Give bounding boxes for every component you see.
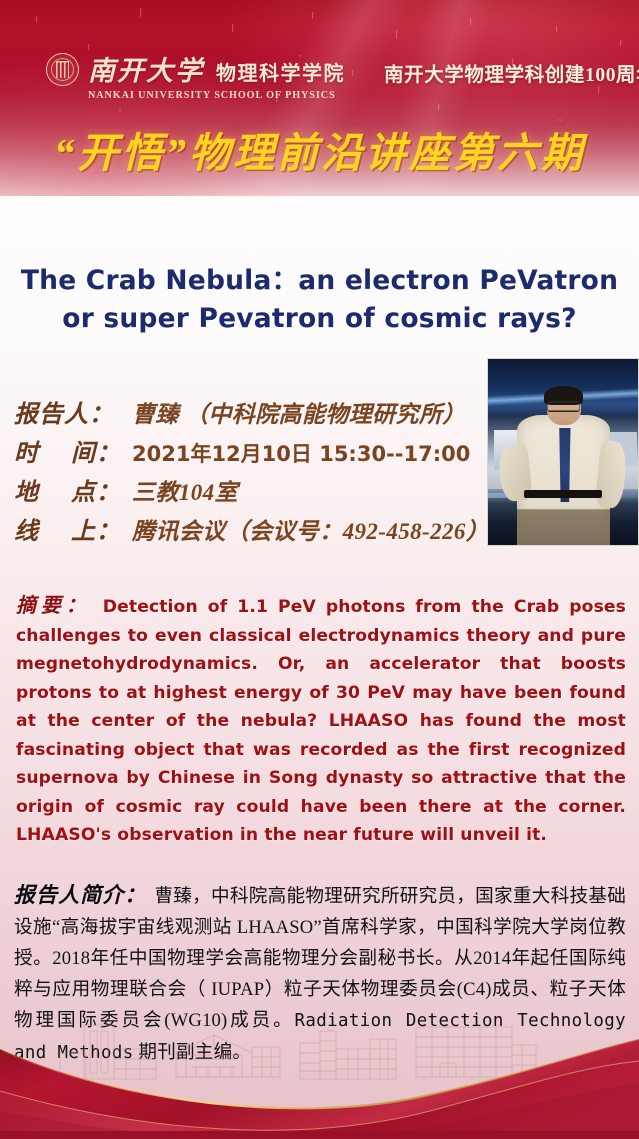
logo-text-group: 南开大学 物理科学学院 NANKAI UNIVERSITY SCHOOL OF … — [88, 49, 345, 101]
detail-label-speaker: 报告人： — [14, 394, 132, 429]
bio-label: 报告人简介： — [14, 883, 146, 907]
detail-value-online: 腾讯会议（会议号：492-458-226） — [132, 512, 489, 546]
footer-decoration — [0, 1019, 639, 1139]
nankai-seal-icon — [46, 53, 79, 86]
lecture-poster: 南开大学 物理科学学院 NANKAI UNIVERSITY SCHOOL OF … — [0, 0, 639, 1139]
talk-details: 报告人： 曹臻 （中科院高能物理研究所） 时 间： 2021年12月10日 15… — [14, 394, 484, 550]
bio-text-part-1: 曹臻，中科院高能物理研究所研究员，国家重大科技基础设施“高海拔宇宙线观测站 LH… — [14, 886, 626, 1031]
detail-value-speaker: 曹臻 （中科院高能物理研究所） — [132, 395, 466, 429]
detail-row-time: 时 间： 2021年12月10日 15:30--17:00 — [14, 433, 484, 468]
red-ribbon-icon — [0, 1019, 639, 1139]
detail-value-time: 2021年12月10日 15:30--17:00 — [132, 438, 470, 468]
logo-school-cn: 物理科学学院 — [216, 57, 345, 86]
detail-value-location: 三教104室 — [132, 473, 238, 507]
abstract-label: 摘要： — [16, 595, 91, 617]
photo-person-belt — [524, 490, 602, 498]
logo-brand-cn: 南开大学 — [88, 49, 204, 88]
series-title: “开悟”物理前沿讲座第六期 — [0, 119, 639, 179]
detail-label-online: 线 上： — [14, 511, 132, 546]
logo-brand-en: NANKAI UNIVERSITY SCHOOL OF PHYSICS — [88, 90, 345, 101]
talk-title-line-1: The Crab Nebula：an electron PeVatron — [14, 262, 625, 300]
abstract-section: 摘要：Detection of 1.1 PeV photons from the… — [16, 592, 626, 850]
detail-label-time: 时 间： — [14, 433, 132, 468]
anniversary-text: 南开大学物理学科创建100周年 — [384, 58, 639, 87]
talk-title-line-2: or super Pevatron of cosmic rays? — [14, 300, 625, 338]
abstract-text: Detection of 1.1 PeV photons from the Cr… — [16, 597, 626, 845]
detail-label-location: 地 点： — [14, 472, 132, 507]
university-logo: 南开大学 物理科学学院 NANKAI UNIVERSITY SCHOOL OF … — [46, 49, 345, 101]
photo-person-glasses-icon — [547, 401, 580, 412]
talk-title: The Crab Nebula：an electron PeVatron or … — [14, 262, 625, 338]
detail-row-online: 线 上： 腾讯会议（会议号：492-458-226） — [14, 511, 484, 546]
detail-row-location: 地 点： 三教104室 — [14, 472, 484, 507]
logo-chinese-row: 南开大学 物理科学学院 — [88, 49, 345, 88]
header-banner: 南开大学 物理科学学院 NANKAI UNIVERSITY SCHOOL OF … — [0, 0, 639, 196]
speaker-photo — [487, 358, 639, 546]
detail-row-speaker: 报告人： 曹臻 （中科院高能物理研究所） — [14, 394, 484, 429]
